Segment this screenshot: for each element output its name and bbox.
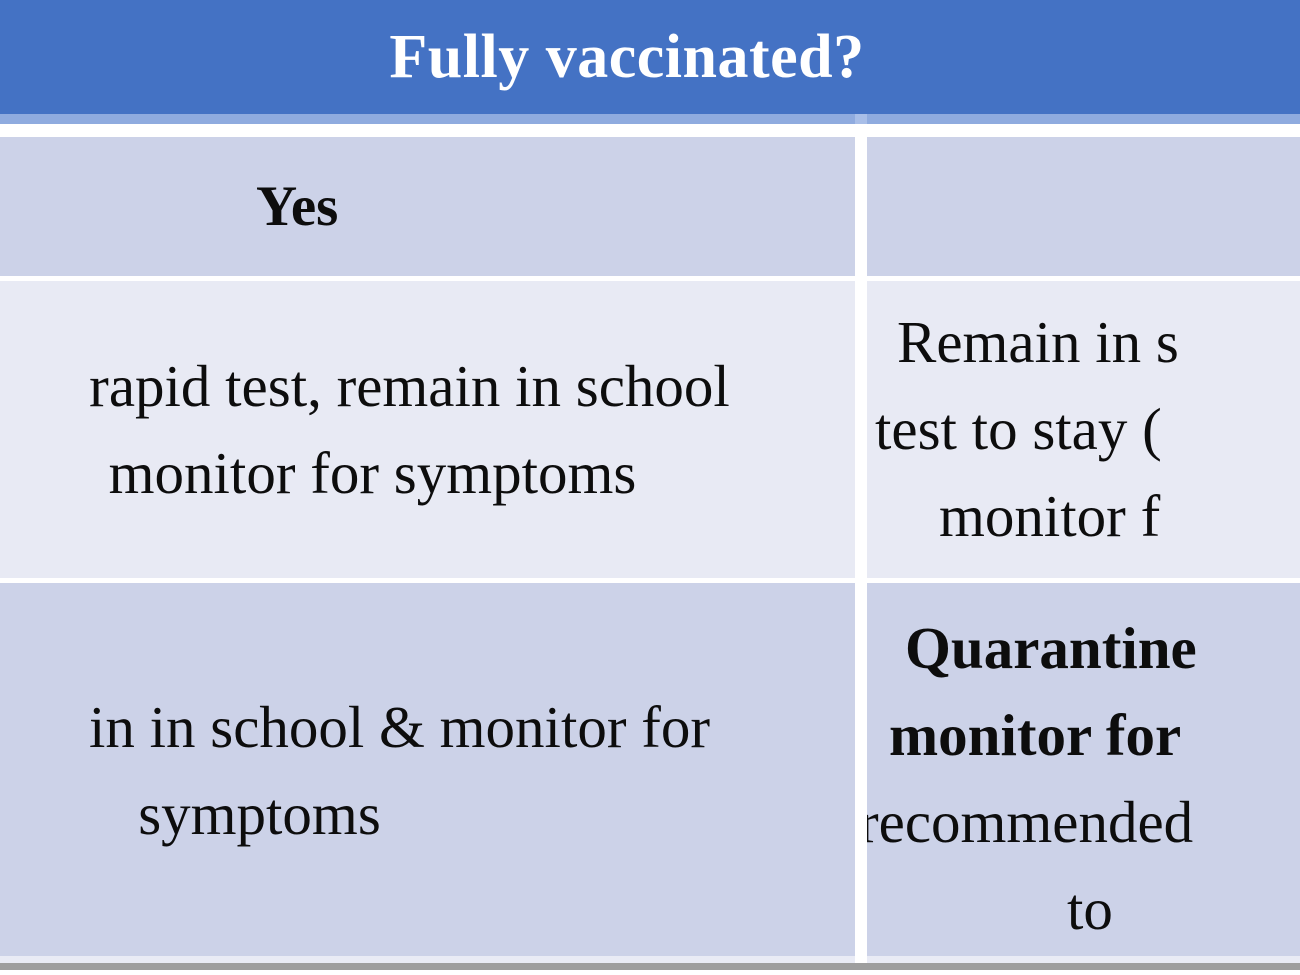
column-header-no <box>867 137 1300 276</box>
banner-title: Fully vaccinated? <box>0 0 1277 114</box>
table-row: Quarantine monitor for recommended to <box>867 583 1300 958</box>
row1-no-line3: monitor f <box>939 473 1160 560</box>
row1-yes-line2: monitor for symptoms <box>109 430 637 517</box>
header-gutter <box>0 124 1300 137</box>
row1-yes-line1: rapid test, remain in school <box>89 343 730 430</box>
banner-column-gap <box>855 114 867 124</box>
table-bottom-border <box>0 963 1300 970</box>
table-row: Remain in s test to stay ( monitor f <box>867 281 1300 578</box>
column-header-yes: Yes <box>0 137 855 276</box>
table-bottom-inner-edge <box>0 956 1300 963</box>
row2-no-line4: to <box>1067 866 1113 953</box>
table-banner: Fully vaccinated? <box>0 0 1300 114</box>
table-row: rapid test, remain in school monitor for… <box>0 281 855 578</box>
row2-yes-line1: in in school & monitor for <box>89 684 710 771</box>
bottom-column-gap <box>855 956 867 963</box>
table-screenshot: Fully vaccinated? Yes rapid test, remain… <box>0 0 1300 975</box>
column-header-yes-label: Yes <box>256 177 338 237</box>
row1-no-line1: Remain in s <box>897 299 1179 386</box>
page-bottom-margin <box>0 970 1300 975</box>
table-row: in in school & monitor for symptoms <box>0 583 855 958</box>
row2-yes-line2: symptoms <box>138 771 381 858</box>
column-divider <box>855 124 867 958</box>
row2-no-line1: Quarantine <box>905 605 1197 692</box>
row2-no-line2: monitor for <box>889 692 1181 779</box>
banner-underline <box>0 114 1300 124</box>
row1-no-line2: test to stay ( <box>875 386 1162 473</box>
row2-no-line3: recommended <box>867 779 1193 866</box>
